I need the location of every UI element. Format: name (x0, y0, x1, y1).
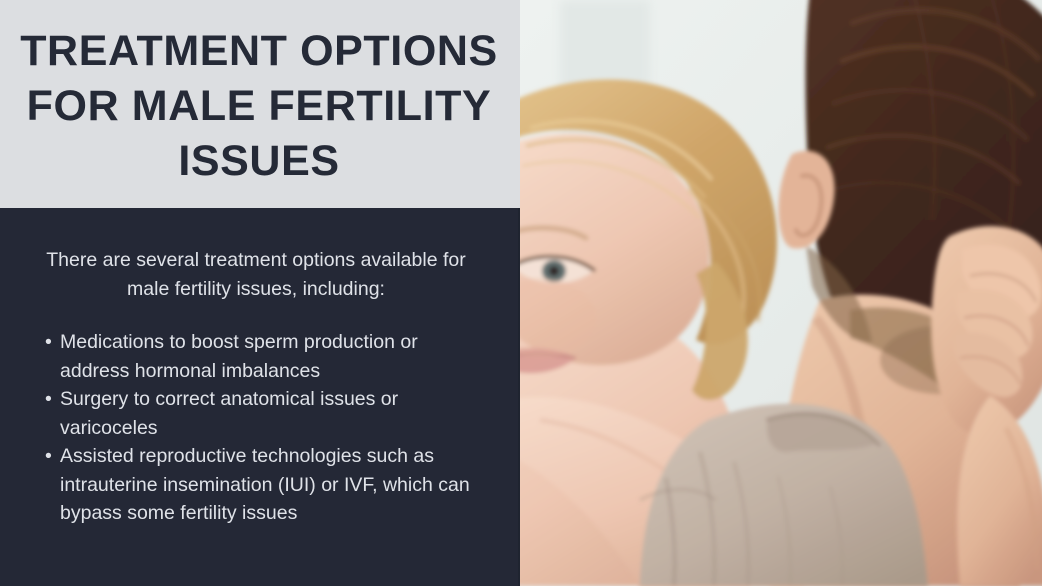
couple-photo (520, 0, 1042, 586)
title-panel: TREATMENT OPTIONS FOR MALE FERTILITY ISS… (0, 0, 520, 208)
slide-canvas: TREATMENT OPTIONS FOR MALE FERTILITY ISS… (0, 0, 1042, 586)
list-item: • Assisted reproductive technologies suc… (44, 442, 484, 528)
bullet-icon: • (45, 328, 52, 357)
bullet-icon: • (45, 442, 52, 471)
bullet-icon: • (45, 385, 52, 414)
page-title: TREATMENT OPTIONS FOR MALE FERTILITY ISS… (18, 24, 500, 189)
left-column: TREATMENT OPTIONS FOR MALE FERTILITY ISS… (0, 0, 520, 586)
body-panel: There are several treatment options avai… (0, 208, 518, 586)
list-item-label: Assisted reproductive technologies such … (60, 445, 470, 524)
treatment-options-list: • Medications to boost sperm production … (44, 328, 484, 528)
list-item-label: Medications to boost sperm production or… (60, 331, 418, 382)
list-item: • Medications to boost sperm production … (44, 328, 484, 385)
list-item-label: Surgery to correct anatomical issues or … (60, 388, 398, 439)
couple-photo-illustration (520, 0, 1042, 586)
intro-paragraph: There are several treatment options avai… (34, 246, 478, 304)
list-item: • Surgery to correct anatomical issues o… (44, 385, 484, 442)
